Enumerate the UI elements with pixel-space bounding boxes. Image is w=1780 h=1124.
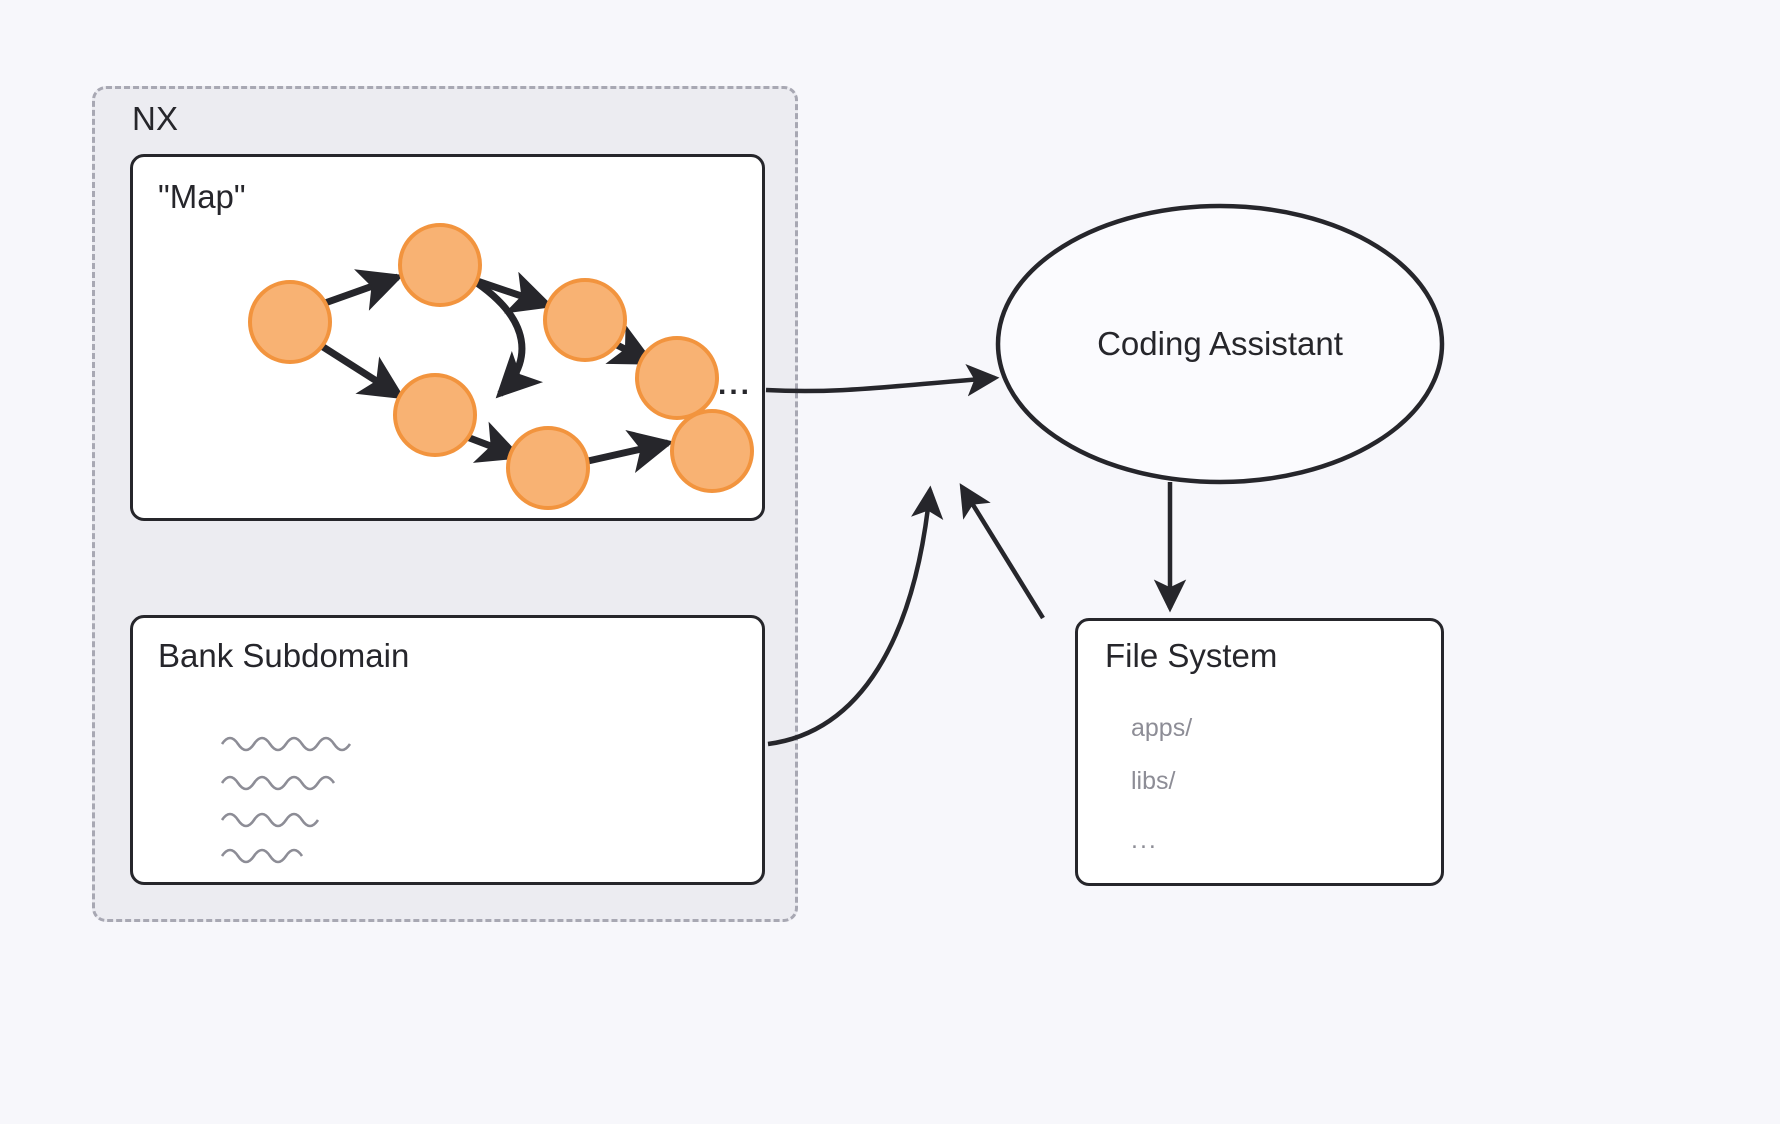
- graph-node[interactable]: [672, 411, 752, 491]
- bank-subdomain-squiggles: [222, 738, 350, 862]
- map-graph-nodes: [250, 225, 752, 508]
- diagram-canvas: NX "Map" Bank Subdomain File System apps…: [0, 0, 1780, 1124]
- diagram-vector-layer: [0, 0, 1780, 1124]
- connector-bank-to-coding-assistant: [768, 490, 930, 744]
- graph-edge-n2-n4-curved: [477, 283, 522, 394]
- graph-node[interactable]: [545, 280, 625, 360]
- graph-node[interactable]: [637, 338, 717, 418]
- graph-edge-n1-n4: [320, 345, 400, 396]
- squiggle-line: [222, 850, 302, 862]
- graph-edge-n1-n2: [325, 277, 398, 303]
- graph-edge-n6-n7: [588, 443, 668, 461]
- graph-node[interactable]: [400, 225, 480, 305]
- coding-assistant-label: Coding Assistant: [1010, 325, 1430, 363]
- map-graph-ellipsis: ...: [718, 368, 752, 402]
- graph-node[interactable]: [508, 428, 588, 508]
- squiggle-line: [222, 814, 318, 826]
- connector-map-to-coding-assistant: [766, 378, 995, 391]
- squiggle-line: [222, 738, 350, 750]
- graph-node[interactable]: [395, 375, 475, 455]
- connector-source-to-coding-assistant: [962, 487, 1043, 618]
- squiggle-line: [222, 777, 334, 789]
- graph-node[interactable]: [250, 282, 330, 362]
